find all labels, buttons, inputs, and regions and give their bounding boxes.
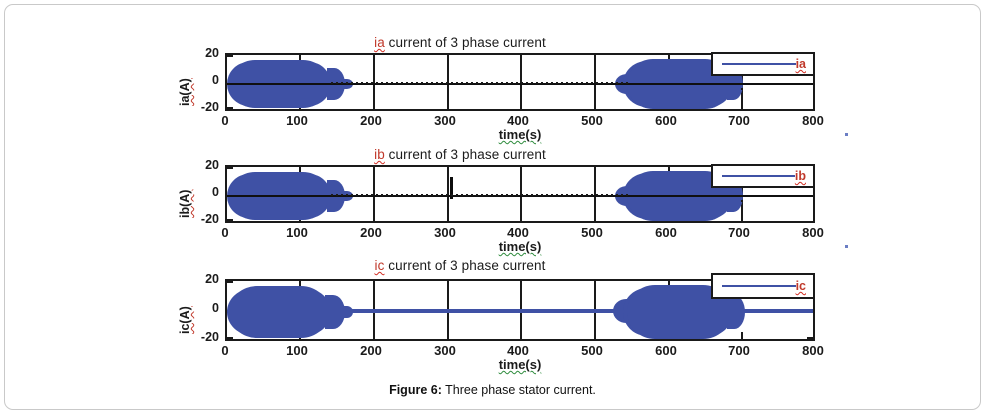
plot-title-rest-ia: current of 3 phase current (385, 35, 546, 50)
y-tick-ic-0: 0 (183, 301, 219, 315)
plot-title-series-ib: ib (374, 147, 385, 162)
plot-title-series-ia: ia (374, 35, 385, 50)
zero-dotline-ia (331, 82, 631, 84)
x-tick-ic-200: 200 (353, 343, 389, 358)
plot-title-series-ic: ic (375, 258, 385, 273)
x-tick-ic-600: 600 (648, 343, 684, 358)
marker-ib-700 (741, 195, 743, 221)
y-tick-ia-neg20: -20 (179, 100, 219, 114)
legend-line-ic (722, 285, 796, 287)
y-tick-ia-0: 0 (183, 73, 219, 87)
figure-caption-label: Figure 6: (389, 383, 442, 397)
y-tick-mark-ic-bot (227, 337, 233, 339)
y-tick-ib-0: 0 (183, 185, 219, 199)
tick-ic-700-bot (741, 332, 743, 339)
plot-title-rest-ib: current of 3 phase current (385, 147, 546, 162)
x-tick-ic-500: 500 (574, 343, 610, 358)
y-tick-mark-ic-top (227, 281, 233, 283)
x-tick-ic-400: 400 (500, 343, 536, 358)
x-tick-ic-700: 700 (721, 343, 757, 358)
legend-ia[interactable]: ia (711, 52, 815, 76)
legend-ib[interactable]: ib (711, 164, 815, 188)
y-tick-ic-neg20: -20 (179, 330, 219, 344)
zero-line-ic (227, 310, 813, 313)
zero-dotline-ib (331, 194, 631, 196)
legend-ic[interactable]: ic (711, 273, 815, 299)
legend-line-ib (722, 175, 795, 177)
legend-line-ia (722, 63, 796, 65)
figure-card: ia current of 3 phase current ia(A) 20 0… (4, 4, 981, 410)
y-tick-mark-ia-top (227, 55, 233, 57)
legend-label-ic: ic (796, 279, 806, 293)
y-tick-ia-20: 20 (183, 46, 219, 60)
marker-ia-700 (741, 83, 743, 109)
y-tick-ic-20: 20 (183, 272, 219, 286)
plot-title-ic: ic current of 3 phase current (295, 258, 625, 273)
y-tick-mark-ia-bot (227, 107, 233, 109)
plot-title-ib: ib current of 3 phase current (295, 147, 625, 162)
plot-panel-ib: ib current of 3 phase current ib(A) 20 0… (5, 117, 982, 229)
x-tick-ic-100: 100 (279, 343, 315, 358)
x-axis-label-ic: time(s) (455, 357, 585, 372)
x-tick-ic-800: 800 (795, 343, 831, 358)
legend-label-ia: ia (796, 57, 806, 71)
figure-caption-text: Three phase stator current. (442, 383, 596, 397)
plot-panel-ia: ia current of 3 phase current ia(A) 20 0… (5, 5, 982, 117)
legend-label-ib: ib (795, 169, 806, 183)
x-tick-ic-300: 300 (427, 343, 463, 358)
y-tick-mark-ic-bot-r (807, 337, 813, 339)
plot-title-rest-ic: current of 3 phase current (384, 258, 545, 273)
plot-title-ia: ia current of 3 phase current (295, 35, 625, 50)
y-tick-mark-ib-bot (227, 219, 233, 221)
y-tick-ib-neg20: -20 (179, 212, 219, 226)
x-tick-ic-0: 0 (207, 343, 243, 358)
plot-panel-ic: ic current of 3 phase current ic(A) 20 0… (5, 227, 982, 357)
y-tick-mark-ib-top (227, 167, 233, 169)
y-tick-ib-20: 20 (183, 158, 219, 172)
figure-caption: Figure 6: Three phase stator current. (5, 383, 980, 397)
